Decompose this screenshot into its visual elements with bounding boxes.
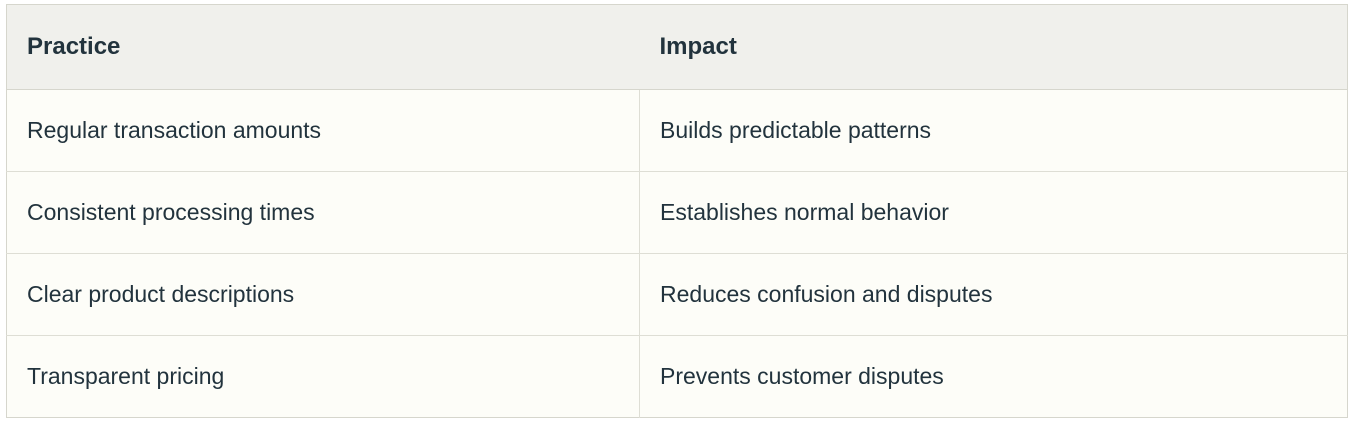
cell-practice: Transparent pricing: [7, 336, 640, 418]
cell-impact: Prevents customer disputes: [640, 336, 1348, 418]
cell-practice: Regular transaction amounts: [7, 90, 640, 172]
cell-impact: Establishes normal behavior: [640, 172, 1348, 254]
table-row: Clear product descriptions Reduces confu…: [7, 254, 1348, 336]
column-header-practice: Practice: [7, 5, 640, 90]
cell-impact: Reduces confusion and disputes: [640, 254, 1348, 336]
cell-practice: Consistent processing times: [7, 172, 640, 254]
practice-impact-table: Practice Impact Regular transaction amou…: [6, 4, 1348, 418]
table-body: Regular transaction amounts Builds predi…: [7, 90, 1348, 418]
cell-practice: Clear product descriptions: [7, 254, 640, 336]
table-row: Consistent processing times Establishes …: [7, 172, 1348, 254]
table-header-row: Practice Impact: [7, 5, 1348, 90]
table-row: Transparent pricing Prevents customer di…: [7, 336, 1348, 418]
table-row: Regular transaction amounts Builds predi…: [7, 90, 1348, 172]
column-header-impact: Impact: [640, 5, 1348, 90]
table-header: Practice Impact: [7, 5, 1348, 90]
cell-impact: Builds predictable patterns: [640, 90, 1348, 172]
practice-impact-table-container: Practice Impact Regular transaction amou…: [6, 4, 1347, 418]
